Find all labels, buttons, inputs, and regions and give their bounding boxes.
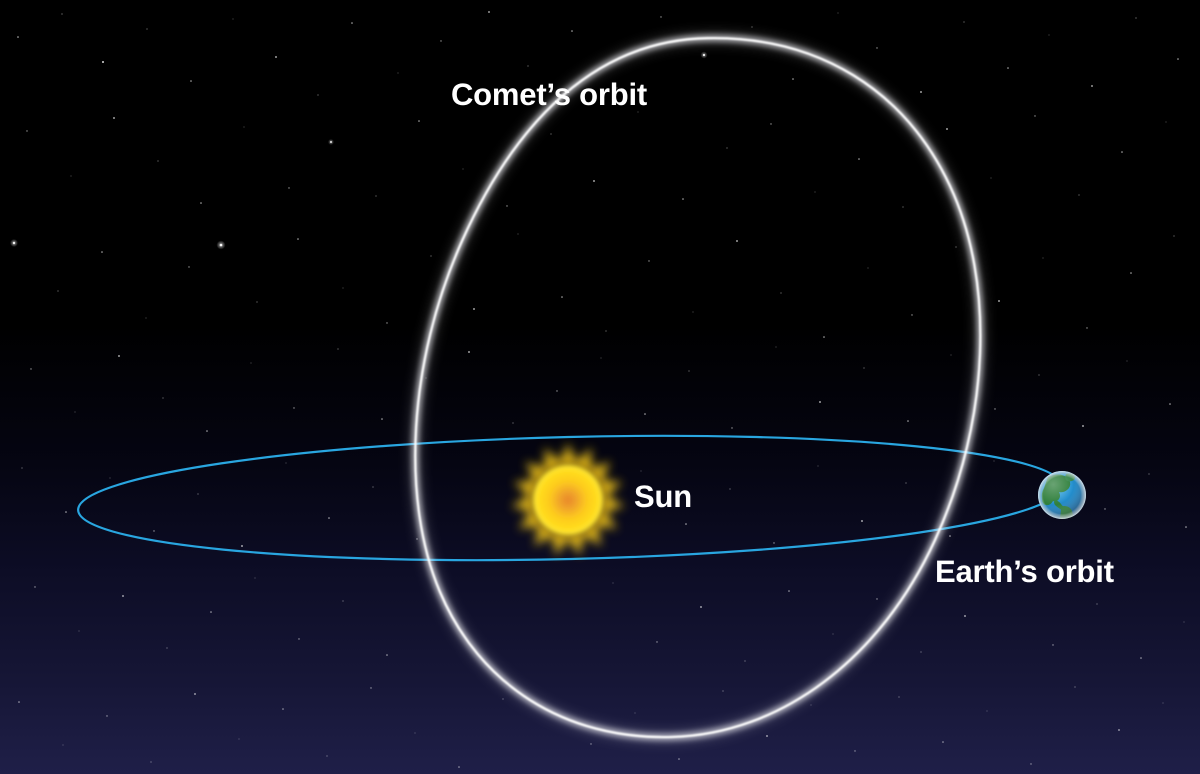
orbit-diagram: Comet’s orbit Sun Earth’s orbit <box>0 0 1200 774</box>
earth-orbit-label: Earth’s orbit <box>935 556 1114 587</box>
sun-label: Sun <box>634 481 692 512</box>
comet-orbit-soft-band <box>415 38 980 737</box>
comet-orbit-outer-glow <box>415 38 980 737</box>
comet-orbit-layer <box>0 0 1200 774</box>
comet-orbit-core-line <box>415 38 980 737</box>
comet-orbit-label: Comet’s orbit <box>451 79 647 110</box>
comet-orbit-path-group <box>415 38 980 737</box>
